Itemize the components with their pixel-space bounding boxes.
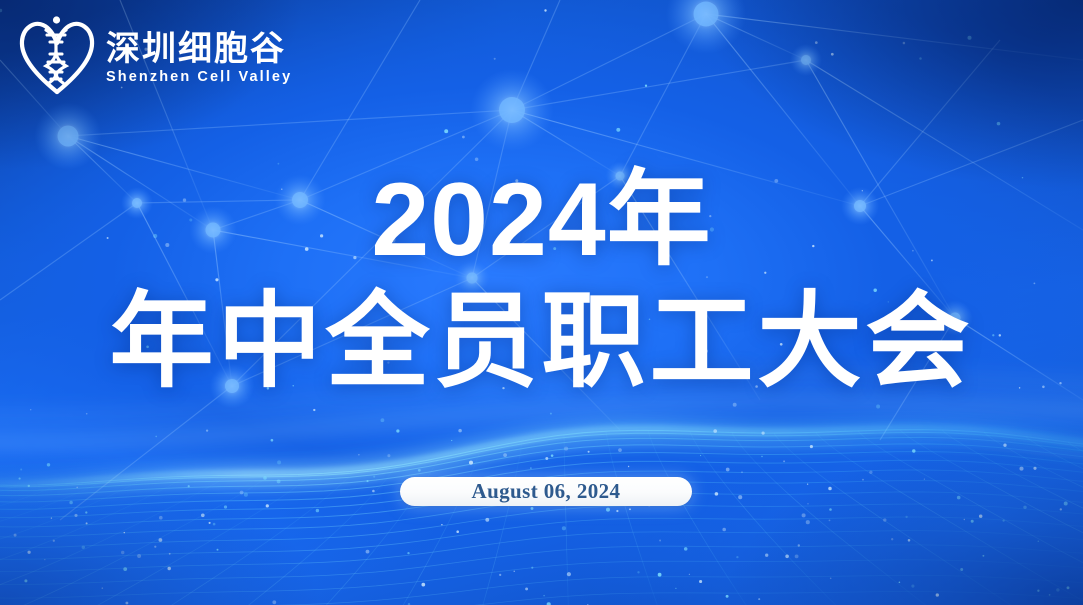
- dna-helix-heart-icon: [18, 14, 96, 96]
- title-line-year: 2024年: [0, 168, 1083, 272]
- event-date-text: August 06, 2024: [472, 481, 621, 502]
- brand-logo[interactable]: 深圳细胞谷 Shenzhen Cell Valley: [18, 14, 292, 96]
- brand-name-english: Shenzhen Cell Valley: [106, 70, 292, 85]
- title-line-main: 年中全员职工大会: [0, 290, 1083, 394]
- brand-wordmark: 深圳细胞谷 Shenzhen Cell Valley: [106, 26, 292, 85]
- event-title: 2024年 年中全员职工大会: [0, 168, 1083, 394]
- brand-name-chinese: 深圳细胞谷: [106, 32, 292, 66]
- event-date-badge: August 06, 2024: [400, 477, 692, 506]
- event-title-slide: 深圳细胞谷 Shenzhen Cell Valley 2024年 年中全员职工大…: [0, 0, 1083, 605]
